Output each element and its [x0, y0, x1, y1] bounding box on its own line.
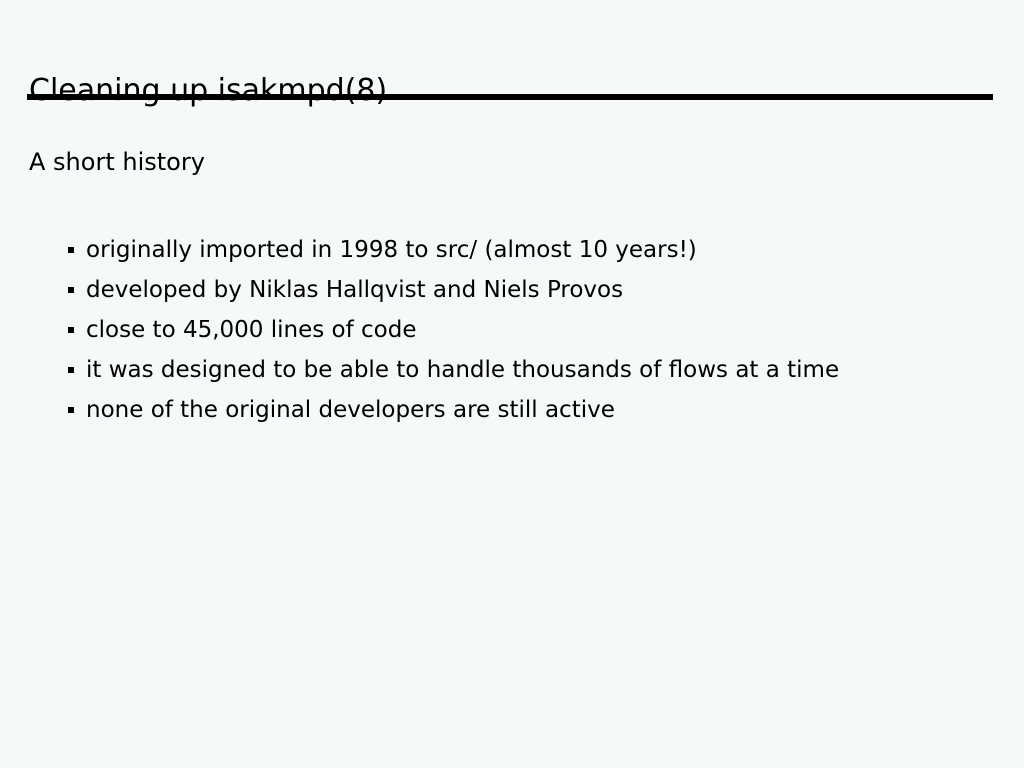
- square-bullet-icon: [68, 287, 74, 293]
- list-item-label: it was designed to be able to handle tho…: [86, 350, 958, 390]
- list-item-label: developed by Niklas Hallqvist and Niels …: [86, 270, 958, 310]
- square-bullet-icon: [68, 247, 74, 253]
- square-bullet-icon: [68, 327, 74, 333]
- page-title: Cleaning up isakmpd(8): [29, 72, 387, 110]
- list-item-label: originally imported in 1998 to src/ (alm…: [86, 230, 958, 270]
- list-item: it was designed to be able to handle tho…: [68, 350, 958, 390]
- list-item: close to 45,000 lines of code: [68, 310, 958, 350]
- list-item: originally imported in 1998 to src/ (alm…: [68, 230, 958, 270]
- list-item: developed by Niklas Hallqvist and Niels …: [68, 270, 958, 310]
- bullet-list: originally imported in 1998 to src/ (alm…: [68, 230, 958, 430]
- title-divider: [27, 94, 993, 100]
- list-item-label: none of the original developers are stil…: [86, 390, 958, 430]
- list-item: none of the original developers are stil…: [68, 390, 958, 430]
- list-item-label: close to 45,000 lines of code: [86, 310, 958, 350]
- square-bullet-icon: [68, 367, 74, 373]
- slide-subtitle: A short history: [29, 146, 205, 178]
- square-bullet-icon: [68, 407, 74, 413]
- slide-canvas: Cleaning up isakmpd(8) A short history o…: [0, 0, 1024, 768]
